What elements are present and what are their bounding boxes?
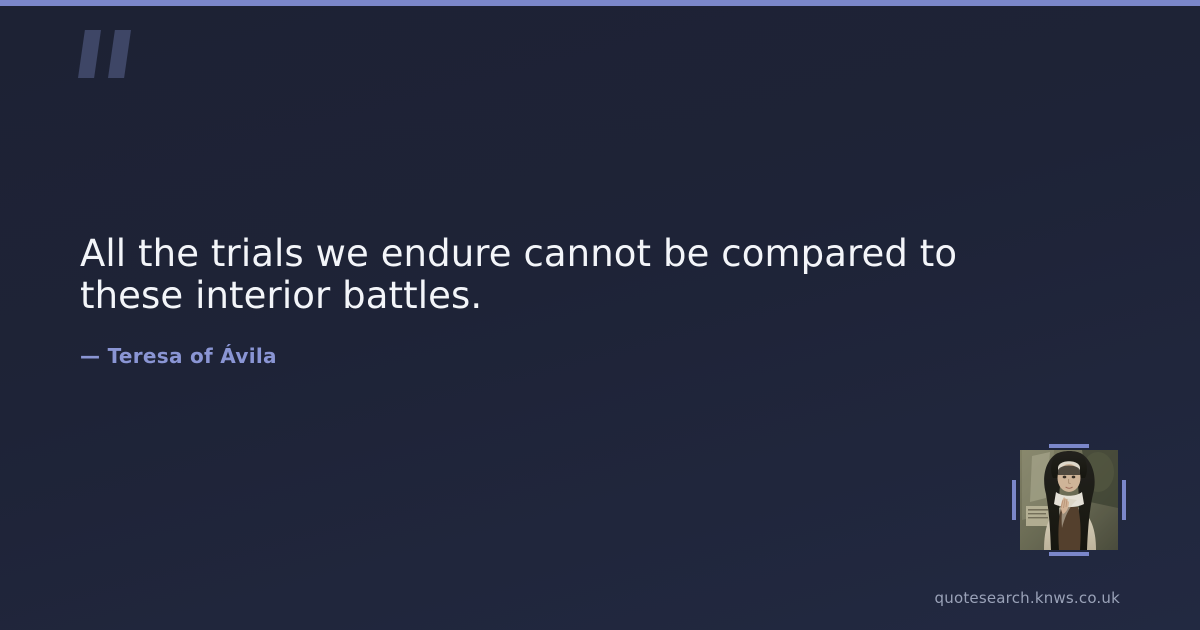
quote-body: All the trials we endure cannot be compa… [80,233,980,317]
portrait-artwork-icon [1020,450,1118,550]
open-quote-stroke-left [78,30,101,78]
focus-tick-right [1122,480,1126,520]
top-accent-bar [0,0,1200,6]
focus-tick-bottom [1049,552,1089,556]
quote-card: All the trials we endure cannot be compa… [0,0,1200,630]
author-portrait [1020,450,1118,550]
focus-tick-left [1012,480,1016,520]
open-quote-stroke-right [108,30,131,78]
author-portrait-image [1020,450,1118,550]
focus-tick-top [1049,444,1089,448]
quote-attribution: — Teresa of Ávila [80,344,277,368]
source-url[interactable]: quotesearch.knws.co.uk [935,589,1120,607]
quote-text: All the trials we endure cannot be compa… [80,233,980,317]
open-quote-icon [78,30,140,82]
